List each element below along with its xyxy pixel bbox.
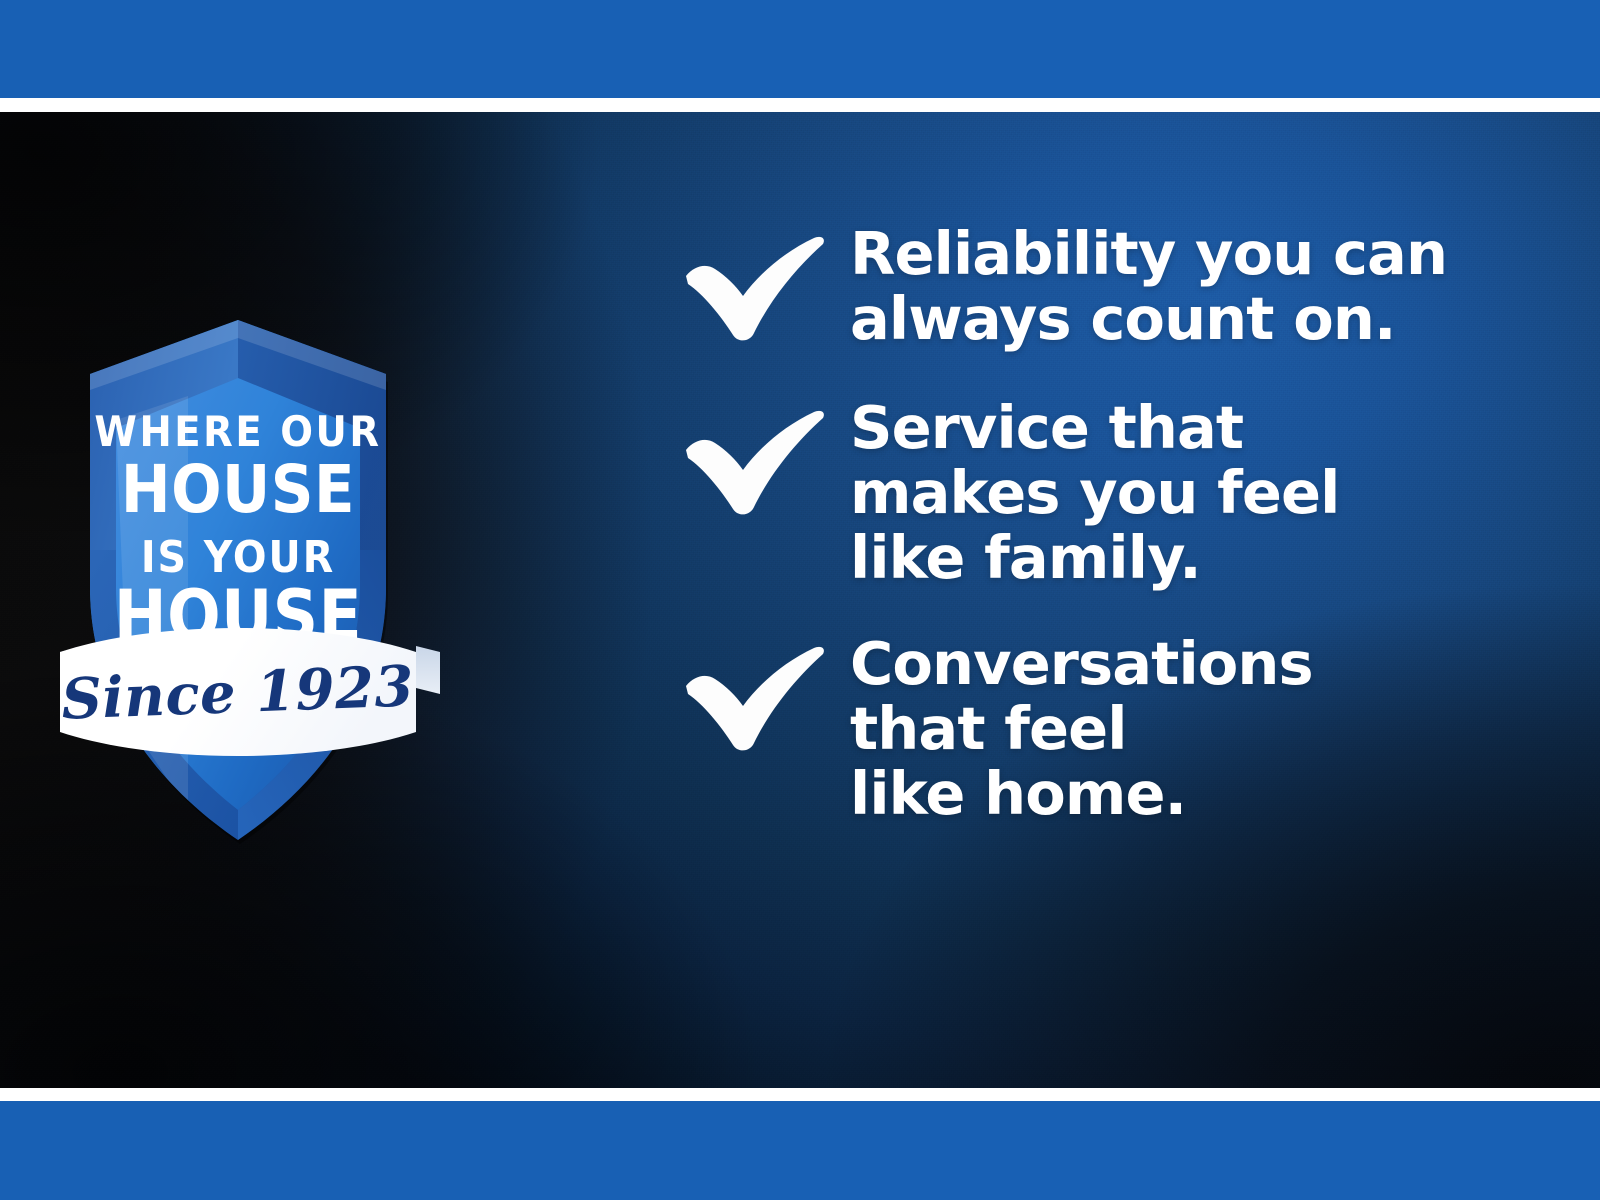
benefit-text: Reliability you can always count on. (850, 222, 1572, 352)
check-icon (680, 642, 828, 760)
shield-emblem: WHERE OUR HOUSE IS YOUR HOUSE Since 1923 (0, 250, 408, 910)
banner-text: Since 1923 (60, 653, 415, 732)
benefit-item: Service that makes you feel like family. (672, 396, 1572, 591)
check-icon (680, 406, 828, 524)
top-divider (0, 98, 1600, 112)
shield-line-1: WHERE OUR (94, 408, 381, 457)
benefits-list: Reliability you can always count on. Ser… (672, 222, 1572, 827)
top-accent-bar (0, 0, 1600, 98)
shield-line-2: HOUSE (121, 451, 355, 528)
banner-fold-right (416, 646, 440, 694)
benefit-item: Conversations that feel like home. (672, 632, 1572, 827)
main-stage: WHERE OUR HOUSE IS YOUR HOUSE Since 1923 (0, 112, 1600, 1088)
since-banner: Since 1923 (60, 628, 440, 756)
benefit-item: Reliability you can always count on. (672, 222, 1572, 352)
check-icon (680, 232, 828, 350)
bottom-accent-bar (0, 1101, 1600, 1200)
promo-graphic: WHERE OUR HOUSE IS YOUR HOUSE Since 1923 (0, 0, 1600, 1200)
bottom-divider (0, 1088, 1600, 1101)
benefit-text: Service that makes you feel like family. (850, 396, 1572, 591)
benefit-text: Conversations that feel like home. (850, 632, 1572, 827)
